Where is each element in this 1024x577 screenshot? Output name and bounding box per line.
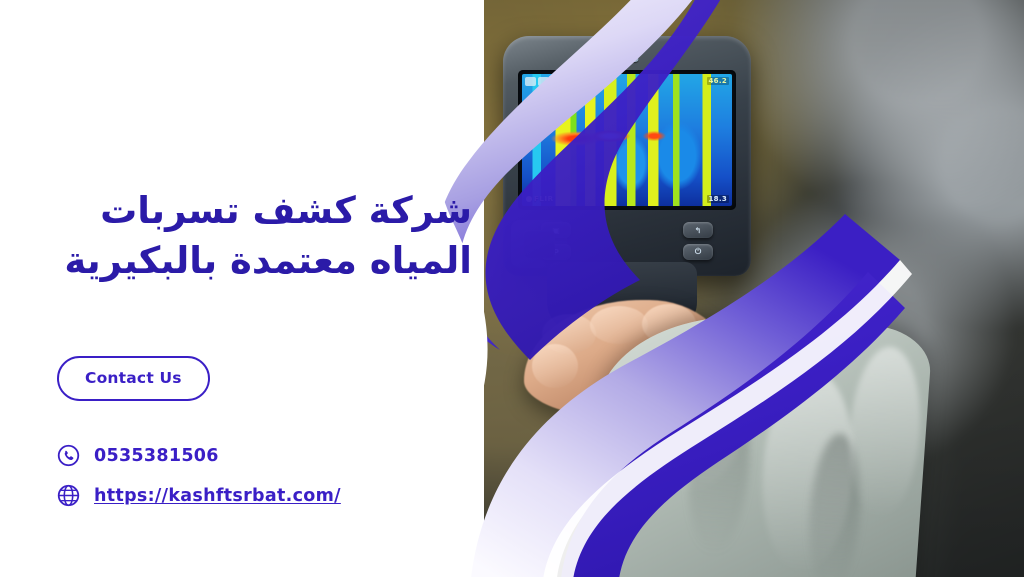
camera-model-label: E85	[503, 52, 751, 65]
page-title: شركة كشف تسربات المياه معتمدة بالبكيرية	[12, 186, 472, 285]
thermal-camera: E85 46.2 18.3 FLIR ▣ P	[503, 36, 751, 336]
content-column: شركة كشف تسربات المياه معتمدة بالبكيرية …	[0, 0, 500, 577]
temperature-low-readout: 18.3	[707, 195, 729, 203]
website-row[interactable]: https://kashftsrbat.com/	[57, 484, 341, 507]
temperature-high-readout: 46.2	[707, 77, 729, 85]
screen-mode-icons	[525, 77, 549, 86]
sleeve	[585, 307, 933, 577]
thermal-image-display: 46.2 18.3 FLIR	[522, 74, 732, 206]
camera-body: E85 46.2 18.3 FLIR ▣ P	[503, 36, 751, 276]
contact-us-button[interactable]: Contact Us	[57, 356, 210, 401]
camera-screen-bezel: 46.2 18.3 FLIR	[518, 70, 736, 210]
globe-icon	[57, 484, 80, 507]
phone-circle-icon	[57, 444, 80, 467]
website-url[interactable]: https://kashftsrbat.com/	[94, 486, 341, 506]
promo-banner: E85 46.2 18.3 FLIR ▣ P	[0, 0, 1024, 577]
hero-photo: E85 46.2 18.3 FLIR ▣ P	[484, 0, 1024, 577]
phone-row[interactable]: 0535381506	[57, 444, 219, 467]
back-button: ↰	[683, 222, 713, 238]
phone-number: 0535381506	[94, 446, 219, 466]
flir-logo: FLIR	[526, 195, 554, 203]
flir-logo-text: FLIR	[534, 195, 554, 203]
power-button: ⏻	[683, 244, 713, 260]
